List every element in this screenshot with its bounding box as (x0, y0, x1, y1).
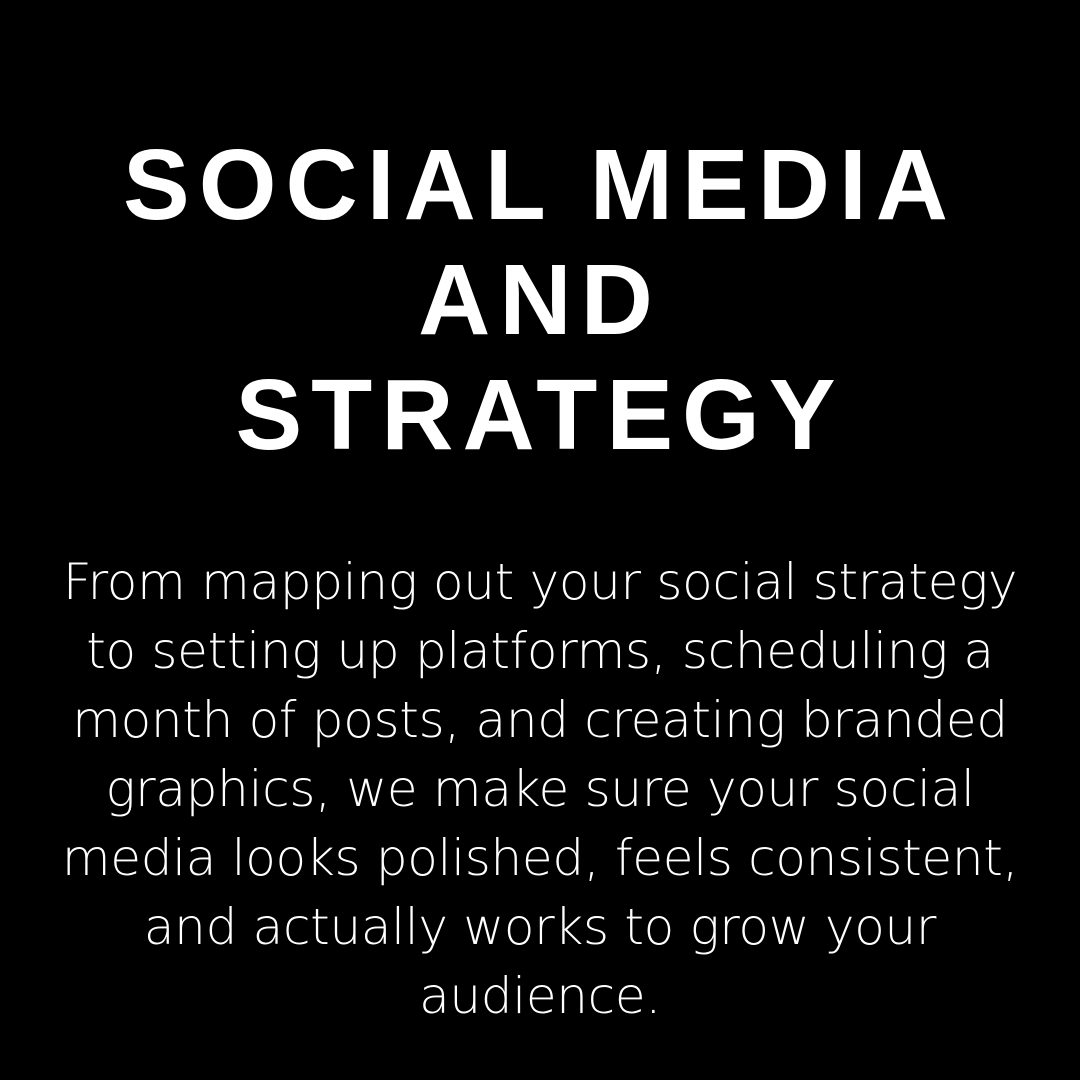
headline-line-3: STRATEGY (40, 358, 1040, 473)
body-line-7: audience. (52, 962, 1028, 1031)
headline-line-1: SOCIAL MEDIA (40, 128, 1040, 243)
body-line-3: month of posts, and creating branded (52, 686, 1028, 755)
body-line-6: and actually works to grow your (52, 893, 1028, 962)
page-title: SOCIAL MEDIA AND STRATEGY (40, 128, 1040, 473)
headline-line-2: AND (40, 243, 1040, 358)
body-paragraph: From mapping out your social strategy to… (52, 548, 1028, 1031)
body-line-1: From mapping out your social strategy (52, 548, 1028, 617)
body-line-5: media looks polished, feels consistent, (52, 824, 1028, 893)
body-line-4: graphics, we make sure your social (52, 755, 1028, 824)
body-line-2: to setting up platforms, scheduling a (52, 617, 1028, 686)
social-media-graphic-canvas: SOCIAL MEDIA AND STRATEGY From mapping o… (0, 0, 1080, 1080)
